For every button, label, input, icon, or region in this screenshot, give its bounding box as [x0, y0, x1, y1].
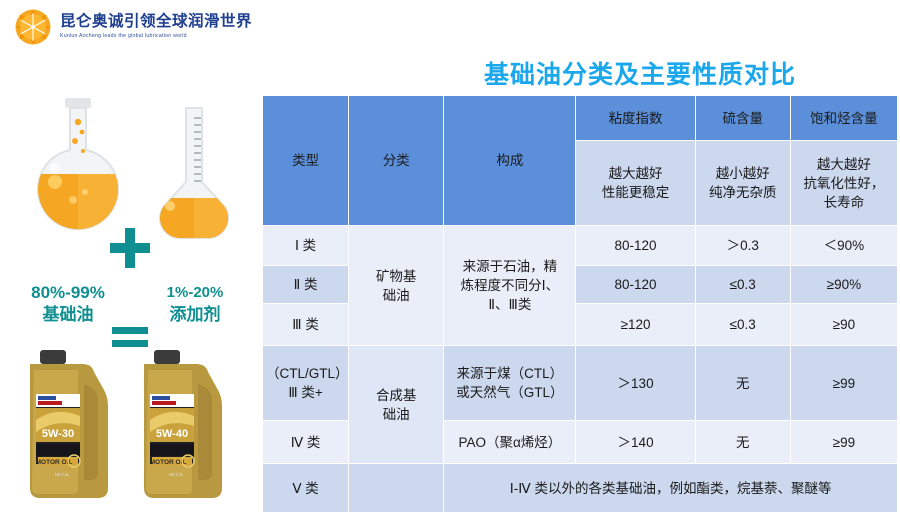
brand-title: 昆仑奥诚引领全球润滑世界 — [60, 13, 252, 31]
additive-percent-value: 1%-20% — [167, 284, 224, 301]
subheader-s-line2: 纯净无杂质 — [699, 183, 787, 202]
page-title: 基础油分类及主要性质对比 — [400, 55, 880, 91]
cell-sulfur-content: ＞0.3 — [695, 226, 790, 266]
cell-saturate-content: ＜90% — [790, 226, 897, 266]
table-row: Ⅴ 类 Ⅰ-Ⅳ 类以外的各类基础油，例如酯类，烷基萘、聚醚等 — [263, 464, 898, 513]
subheader-saturate-content: 越大越好 抗氧化性好， 长寿命 — [790, 141, 897, 226]
subheader-sat-line1: 越大越好 — [794, 155, 894, 174]
cell-type: Ⅳ 类 — [263, 421, 349, 464]
cell-viscosity-index: ＞140 — [576, 421, 695, 464]
brand-subtitle: Kunlun Aocheng leads the global lubricat… — [60, 32, 252, 40]
cell-composition-ctl-gtl: 来源于煤（CTL） 或天然气（GTL） — [444, 346, 576, 421]
cell-type: Ⅴ 类 — [263, 464, 349, 513]
volumetric-flask-icon — [150, 104, 238, 244]
base-oil-percent-value: 80%-99% — [31, 283, 105, 302]
svg-text:5W-30: 5W-30 — [42, 428, 74, 440]
header-viscosity-index: 粘度指数 — [576, 96, 695, 141]
header-sulfur-content: 硫含量 — [695, 96, 790, 141]
group-mineral-line2: 础油 — [352, 286, 440, 305]
equals-sign-icon — [110, 324, 150, 350]
svg-text:NET:4L: NET:4L — [55, 472, 70, 477]
cell-saturate-content: ≥99 — [790, 421, 897, 464]
cell-composition-mineral: 来源于石油，精 炼程度不同分Ⅰ、 Ⅱ、Ⅲ类 — [444, 226, 576, 346]
header-saturate-content: 饱和烃含量 — [790, 96, 897, 141]
base-oil-comparison-table: 类型 分类 构成 粘度指数 硫含量 饱和烃含量 越大越好 性能更稳定 越小越好 … — [262, 95, 898, 513]
base-oil-percent-name: 基础油 — [8, 304, 128, 326]
cell-group-mineral: 矿物基 础油 — [349, 226, 444, 346]
subheader-vi-line1: 越大越好 — [579, 164, 691, 183]
cell-saturate-content: ≥90 — [790, 304, 897, 346]
cell-sulfur-content: 无 — [695, 346, 790, 421]
composition-mineral-line2: 炼程度不同分Ⅰ、 — [447, 276, 572, 295]
cell-composition-pao: PAO（聚α烯烃） — [444, 421, 576, 464]
table-header-row: 类型 分类 构成 粘度指数 硫含量 饱和烃含量 — [263, 96, 898, 141]
motor-oil-bottle-icon: 5W-40 MOTOR OIL NET:4L — [132, 348, 234, 506]
cell-group-empty — [349, 464, 444, 513]
group-synthetic-line2: 础油 — [352, 405, 440, 424]
cell-viscosity-index: ＞130 — [576, 346, 695, 421]
brand-text-group: 昆仑奥诚引领全球润滑世界 Kunlun Aocheng leads the gl… — [60, 13, 252, 40]
cell-viscosity-index: ≥120 — [576, 304, 695, 346]
svg-text:5W-40: 5W-40 — [156, 428, 188, 440]
cell-viscosity-index: 80-120 — [576, 226, 695, 266]
composition-ctl-line1: 来源于煤（CTL） — [447, 364, 572, 383]
motor-oil-bottle-icon: 5W-30 MOTOR OIL NET:4L — [18, 348, 120, 506]
cell-type: Ⅱ 类 — [263, 266, 349, 304]
round-bottom-flask-icon — [25, 96, 130, 246]
subheader-sat-line2: 抗氧化性好， — [794, 174, 894, 193]
group-synthetic-line1: 合成基 — [352, 386, 440, 405]
additive-percent-label: 1%-20% 添加剂 — [140, 282, 250, 326]
additive-percent-name: 添加剂 — [140, 304, 250, 326]
cell-sulfur-content: 无 — [695, 421, 790, 464]
cell-sulfur-content: ≤0.3 — [695, 266, 790, 304]
cell-saturate-content: ≥99 — [790, 346, 897, 421]
svg-text:MOTOR OIL: MOTOR OIL — [150, 459, 187, 466]
header-classification: 分类 — [349, 96, 444, 226]
svg-text:MOTOR OIL: MOTOR OIL — [36, 459, 73, 466]
cell-viscosity-index: 80-120 — [576, 266, 695, 304]
table-row: （CTL/GTL） Ⅲ 类+ 合成基 础油 来源于煤（CTL） 或天然气（GTL… — [263, 346, 898, 421]
cell-note-other-base-oils: Ⅰ-Ⅳ 类以外的各类基础油，例如酯类，烷基萘、聚醚等 — [444, 464, 898, 513]
subheader-s-line1: 越小越好 — [699, 164, 787, 183]
cell-type-line2: Ⅲ 类+ — [266, 383, 345, 402]
sunburst-flower-logo-icon — [14, 8, 52, 46]
cell-type: Ⅲ 类 — [263, 304, 349, 346]
composition-illustration: 80%-99% 基础油 1%-20% 添加剂 5W-30 MOTOR OIL N… — [0, 86, 258, 510]
base-oil-percent-label: 80%-99% 基础油 — [8, 282, 128, 326]
subheader-sat-line3: 长寿命 — [794, 193, 894, 212]
subheader-vi-line2: 性能更稳定 — [579, 183, 691, 202]
brand-logo-bar: 昆仑奥诚引领全球润滑世界 Kunlun Aocheng leads the gl… — [0, 0, 360, 48]
table-row: Ⅰ 类 矿物基 础油 来源于石油，精 炼程度不同分Ⅰ、 Ⅱ、Ⅲ类 80-120 … — [263, 226, 898, 266]
composition-mineral-line3: Ⅱ、Ⅲ类 — [447, 295, 572, 314]
subheader-viscosity-index: 越大越好 性能更稳定 — [576, 141, 695, 226]
group-mineral-line1: 矿物基 — [352, 267, 440, 286]
motor-oil-bottles-group: 5W-30 MOTOR OIL NET:4L 5W-40 MOTOR OIL N… — [10, 348, 250, 508]
cell-type-line1: （CTL/GTL） — [266, 364, 345, 383]
cell-saturate-content: ≥90% — [790, 266, 897, 304]
cell-sulfur-content: ≤0.3 — [695, 304, 790, 346]
header-composition: 构成 — [444, 96, 576, 226]
svg-text:NET:4L: NET:4L — [169, 472, 184, 477]
header-type: 类型 — [263, 96, 349, 226]
plus-sign-icon — [108, 226, 152, 270]
composition-mineral-line1: 来源于石油，精 — [447, 257, 572, 276]
composition-ctl-line2: 或天然气（GTL） — [447, 383, 572, 402]
cell-type: Ⅰ 类 — [263, 226, 349, 266]
cell-type: （CTL/GTL） Ⅲ 类+ — [263, 346, 349, 421]
subheader-sulfur-content: 越小越好 纯净无杂质 — [695, 141, 790, 226]
cell-group-synthetic: 合成基 础油 — [349, 346, 444, 464]
